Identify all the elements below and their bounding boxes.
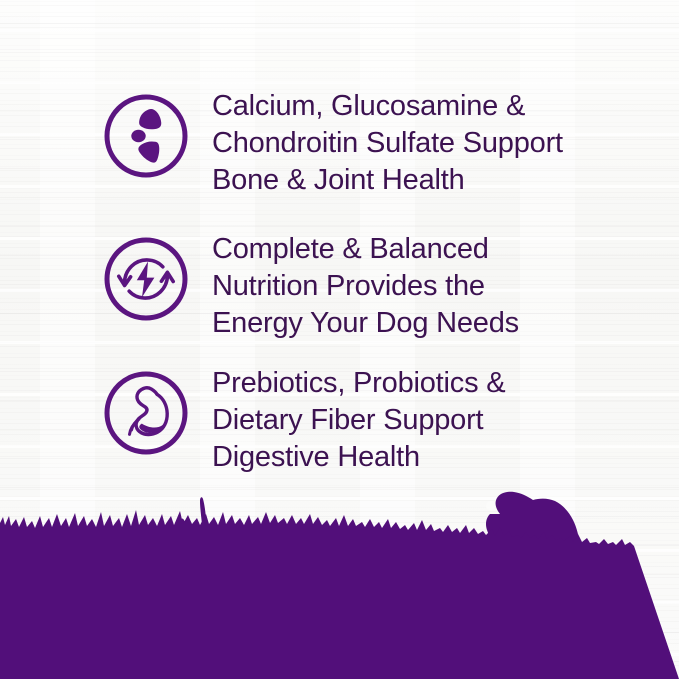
benefit-item-energy: Complete & Balanced Nutrition Provides t… — [102, 231, 519, 342]
benefit-text: Complete & Balanced Nutrition Provides t… — [212, 231, 519, 342]
bottom-silhouette-scene — [0, 479, 679, 679]
benefit-item-bone-joint: Calcium, Glucosamine & Chondroitin Sulfa… — [102, 88, 563, 199]
stomach-icon — [102, 369, 190, 457]
benefit-text: Calcium, Glucosamine & Chondroitin Sulfa… — [212, 88, 563, 199]
energy-cycle-icon — [102, 235, 190, 323]
product-benefits-panel: Calcium, Glucosamine & Chondroitin Sulfa… — [0, 0, 679, 679]
benefit-item-digestion: Prebiotics, Probiotics & Dietary Fiber S… — [102, 365, 505, 476]
benefit-text: Prebiotics, Probiotics & Dietary Fiber S… — [212, 365, 505, 476]
bone-joint-icon — [102, 92, 190, 180]
